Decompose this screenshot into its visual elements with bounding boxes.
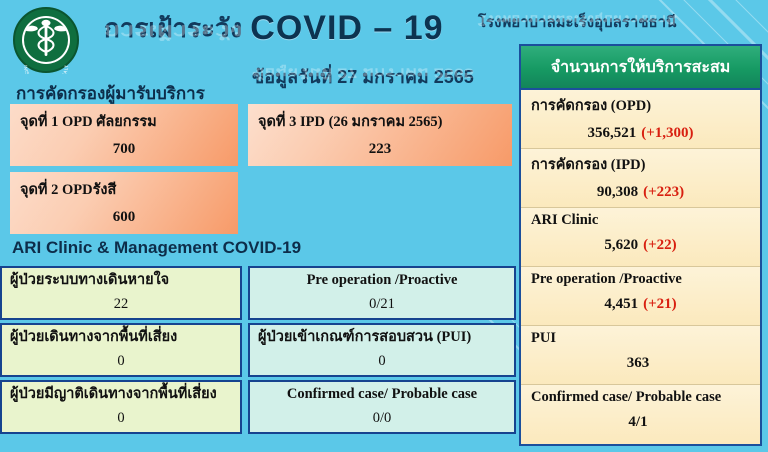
cumulative-pui-label: PUI bbox=[531, 330, 750, 347]
cumulative-services-panel: จำนวนการให้บริการสะสม การคัดกรอง (OPD) 3… bbox=[519, 44, 762, 446]
ari-row: ผู้ป่วยมีญาติเดินทางจากพื้นที่เสี่ยง 0 C… bbox=[0, 380, 516, 434]
cumulative-ari-clinic-values: 5,620(+22) bbox=[531, 237, 750, 254]
cumulative-row-preoperation: Pre operation /Proactive 4,451(+21) bbox=[521, 267, 760, 326]
cumulative-ipd-delta: (+223) bbox=[643, 184, 684, 200]
cumulative-pui-total: 363 bbox=[627, 355, 650, 371]
screening-point-2-value: 600 bbox=[20, 209, 228, 226]
screening-point-1-card: จุดที่ 1 OPD ศัลยกรรม 700 bbox=[10, 104, 238, 166]
cumulative-panel-header: จำนวนการให้บริการสะสม bbox=[521, 46, 760, 90]
cumulative-ari-clinic-total: 5,620 bbox=[604, 237, 638, 253]
screening-point-3-label: จุดที่ 3 IPD (26 มกราคม 2565) bbox=[258, 110, 502, 133]
cumulative-opd-label: การคัดกรอง (OPD) bbox=[531, 94, 750, 117]
ari-risk-area-travel-value: 0 bbox=[10, 353, 232, 370]
ari-preoperation-cell: Pre operation /Proactive 0/21 bbox=[248, 266, 516, 320]
cumulative-preoperation-total: 4,451 bbox=[604, 296, 638, 312]
ari-confirmed-case-value: 0/0 bbox=[258, 410, 506, 427]
cumulative-ipd-label: การคัดกรอง (IPD) bbox=[531, 153, 750, 176]
cumulative-preoperation-delta: (+21) bbox=[643, 296, 677, 312]
cumulative-row-confirmed-case: Confirmed case/ Probable case 4/1 bbox=[521, 385, 760, 444]
cumulative-ari-clinic-delta: (+22) bbox=[643, 237, 677, 253]
cumulative-opd-total: 356,521 bbox=[587, 125, 636, 141]
cumulative-preoperation-values: 4,451(+21) bbox=[531, 296, 750, 313]
screening-point-1-value: 700 bbox=[20, 141, 228, 158]
ari-confirmed-case-cell: Confirmed case/ Probable case 0/0 bbox=[248, 380, 516, 434]
ari-row: ผู้ป่วยเดินทางจากพื้นที่เสี่ยง 0 ผู้ป่วย… bbox=[0, 323, 516, 377]
cumulative-opd-delta: (+1,300) bbox=[641, 125, 693, 141]
ari-preoperation-label: Pre operation /Proactive bbox=[258, 271, 506, 289]
cumulative-preoperation-label: Pre operation /Proactive bbox=[531, 271, 750, 288]
cumulative-ipd-total: 90,308 bbox=[597, 184, 638, 200]
cumulative-row-ipd: การคัดกรอง (IPD) 90,308(+223) bbox=[521, 149, 760, 208]
ari-respiratory-label: ผู้ป่วยระบบทางเดินหายใจ bbox=[10, 271, 232, 289]
page-title-english: COVID – 19 bbox=[250, 9, 443, 47]
cumulative-confirmed-case-values: 4/1 bbox=[531, 414, 750, 431]
ari-risk-area-travel-cell: ผู้ป่วยเดินทางจากพื้นที่เสี่ยง 0 bbox=[0, 323, 242, 377]
page-title-thai: การเฝ้าระวัง bbox=[104, 13, 242, 43]
cumulative-row-pui: PUI 363 bbox=[521, 326, 760, 385]
screening-section-title: การคัดกรองผู้มารับบริการ bbox=[16, 80, 205, 107]
ari-section-title: ARI Clinic & Management COVID-19 bbox=[12, 238, 301, 258]
ari-respiratory-cell: ผู้ป่วยระบบทางเดินหายใจ 22 bbox=[0, 266, 242, 320]
page-title: การเฝ้าระวังCOVID – 19 bbox=[104, 8, 444, 49]
cumulative-ari-clinic-label: ARI Clinic bbox=[531, 212, 750, 229]
ari-pui-value: 0 bbox=[258, 353, 506, 370]
screening-point-1-label: จุดที่ 1 OPD ศัลยกรรม bbox=[20, 110, 228, 133]
ari-pui-label: ผู้ป่วยเข้าเกณฑ์การสอบสวน (PUI) bbox=[258, 328, 506, 346]
cumulative-opd-values: 356,521(+1,300) bbox=[531, 125, 750, 142]
cumulative-row-ari-clinic: ARI Clinic 5,620(+22) bbox=[521, 208, 760, 267]
hospital-name: โรงพยาบาลมะเร็งอุบลราชธานี bbox=[478, 10, 676, 34]
ministry-of-public-health-logo: กระทรวงสาธารณสุข MINISTRY OF PUBLIC HEAL… bbox=[12, 6, 80, 74]
ari-row: ผู้ป่วยระบบทางเดินหายใจ 22 Pre operation… bbox=[0, 266, 516, 320]
cumulative-confirmed-case-label: Confirmed case/ Probable case bbox=[531, 389, 750, 406]
cumulative-confirmed-case-total: 4/1 bbox=[628, 414, 647, 430]
screening-point-2-label: จุดที่ 2 OPDรังสี bbox=[20, 178, 228, 201]
cumulative-panel-header-label: จำนวนการให้บริการสะสม bbox=[551, 55, 731, 80]
ari-confirmed-case-label: Confirmed case/ Probable case bbox=[258, 385, 506, 403]
cumulative-pui-values: 363 bbox=[531, 355, 750, 372]
ari-respiratory-value: 22 bbox=[10, 296, 232, 313]
screening-point-3-card: จุดที่ 3 IPD (26 มกราคม 2565) 223 bbox=[248, 104, 512, 166]
ari-relative-travel-value: 0 bbox=[10, 410, 232, 427]
ari-grid: ผู้ป่วยระบบทางเดินหายใจ 22 Pre operation… bbox=[0, 266, 516, 437]
cumulative-ipd-values: 90,308(+223) bbox=[531, 184, 750, 201]
ari-pui-cell: ผู้ป่วยเข้าเกณฑ์การสอบสวน (PUI) 0 bbox=[248, 323, 516, 377]
ari-relative-travel-label: ผู้ป่วยมีญาติเดินทางจากพื้นที่เสี่ยง bbox=[10, 385, 232, 403]
cumulative-row-opd: การคัดกรอง (OPD) 356,521(+1,300) bbox=[521, 90, 760, 149]
data-date-label: ข้อมูลวันที่ 27 มกราคม 2565 bbox=[252, 62, 474, 91]
screening-point-3-value: 223 bbox=[258, 141, 502, 158]
ari-relative-travel-cell: ผู้ป่วยมีญาติเดินทางจากพื้นที่เสี่ยง 0 bbox=[0, 380, 242, 434]
ari-risk-area-travel-label: ผู้ป่วยเดินทางจากพื้นที่เสี่ยง bbox=[10, 328, 232, 346]
ari-preoperation-value: 0/21 bbox=[258, 296, 506, 313]
screening-point-2-card: จุดที่ 2 OPDรังสี 600 bbox=[10, 172, 238, 234]
